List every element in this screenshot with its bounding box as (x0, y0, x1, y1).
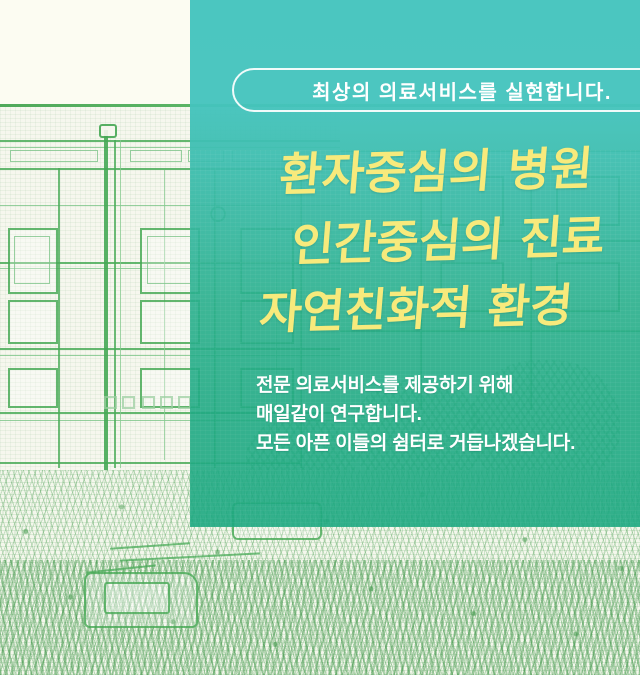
body-line-3: 모든 아픈 이들의 쉼터로 거듭나겠습니다. (256, 429, 640, 458)
headline-line-3: 자연친화적 환경 (257, 269, 640, 346)
facade-window-pane (147, 236, 191, 284)
facade-window-pane (14, 236, 50, 284)
drain-pipe (104, 130, 108, 470)
facade-column (58, 168, 60, 468)
facade-column (114, 140, 116, 468)
facade-window (8, 368, 58, 408)
facade-window (8, 300, 58, 344)
banner-stage: 최상의 의료서비스를 실현합니다. 환자중심의 병원 인간중심의 진료 자연친화… (0, 0, 640, 675)
facade-window (10, 150, 98, 162)
parked-car-window (104, 582, 170, 614)
body-line-1: 전문 의료서비스를 제공하기 위해 (256, 371, 640, 400)
facade-sign-mark (142, 396, 155, 409)
drain-pipe-cap (99, 124, 117, 138)
facade-sign-mark (160, 396, 173, 409)
headline-line-2: 인간중심의 진료 (289, 201, 640, 279)
facade-sign-mark (104, 396, 117, 409)
body-line-2: 매일같이 연구합니다. (256, 400, 640, 429)
body-copy-block: 전문 의료서비스를 제공하기 위해 매일같이 연구합니다. 모든 아픈 이들의 … (256, 371, 640, 458)
headline-block: 환자중심의 병원 인간중심의 진료 자연친화적 환경 (250, 136, 640, 342)
facade-window (130, 150, 182, 162)
headline-line-1: 환자중심의 병원 (277, 132, 640, 210)
facade-sign-mark (122, 396, 135, 409)
facade-column (120, 140, 121, 468)
tagline-text: 최상의 의료서비스를 실현합니다. (282, 69, 640, 111)
